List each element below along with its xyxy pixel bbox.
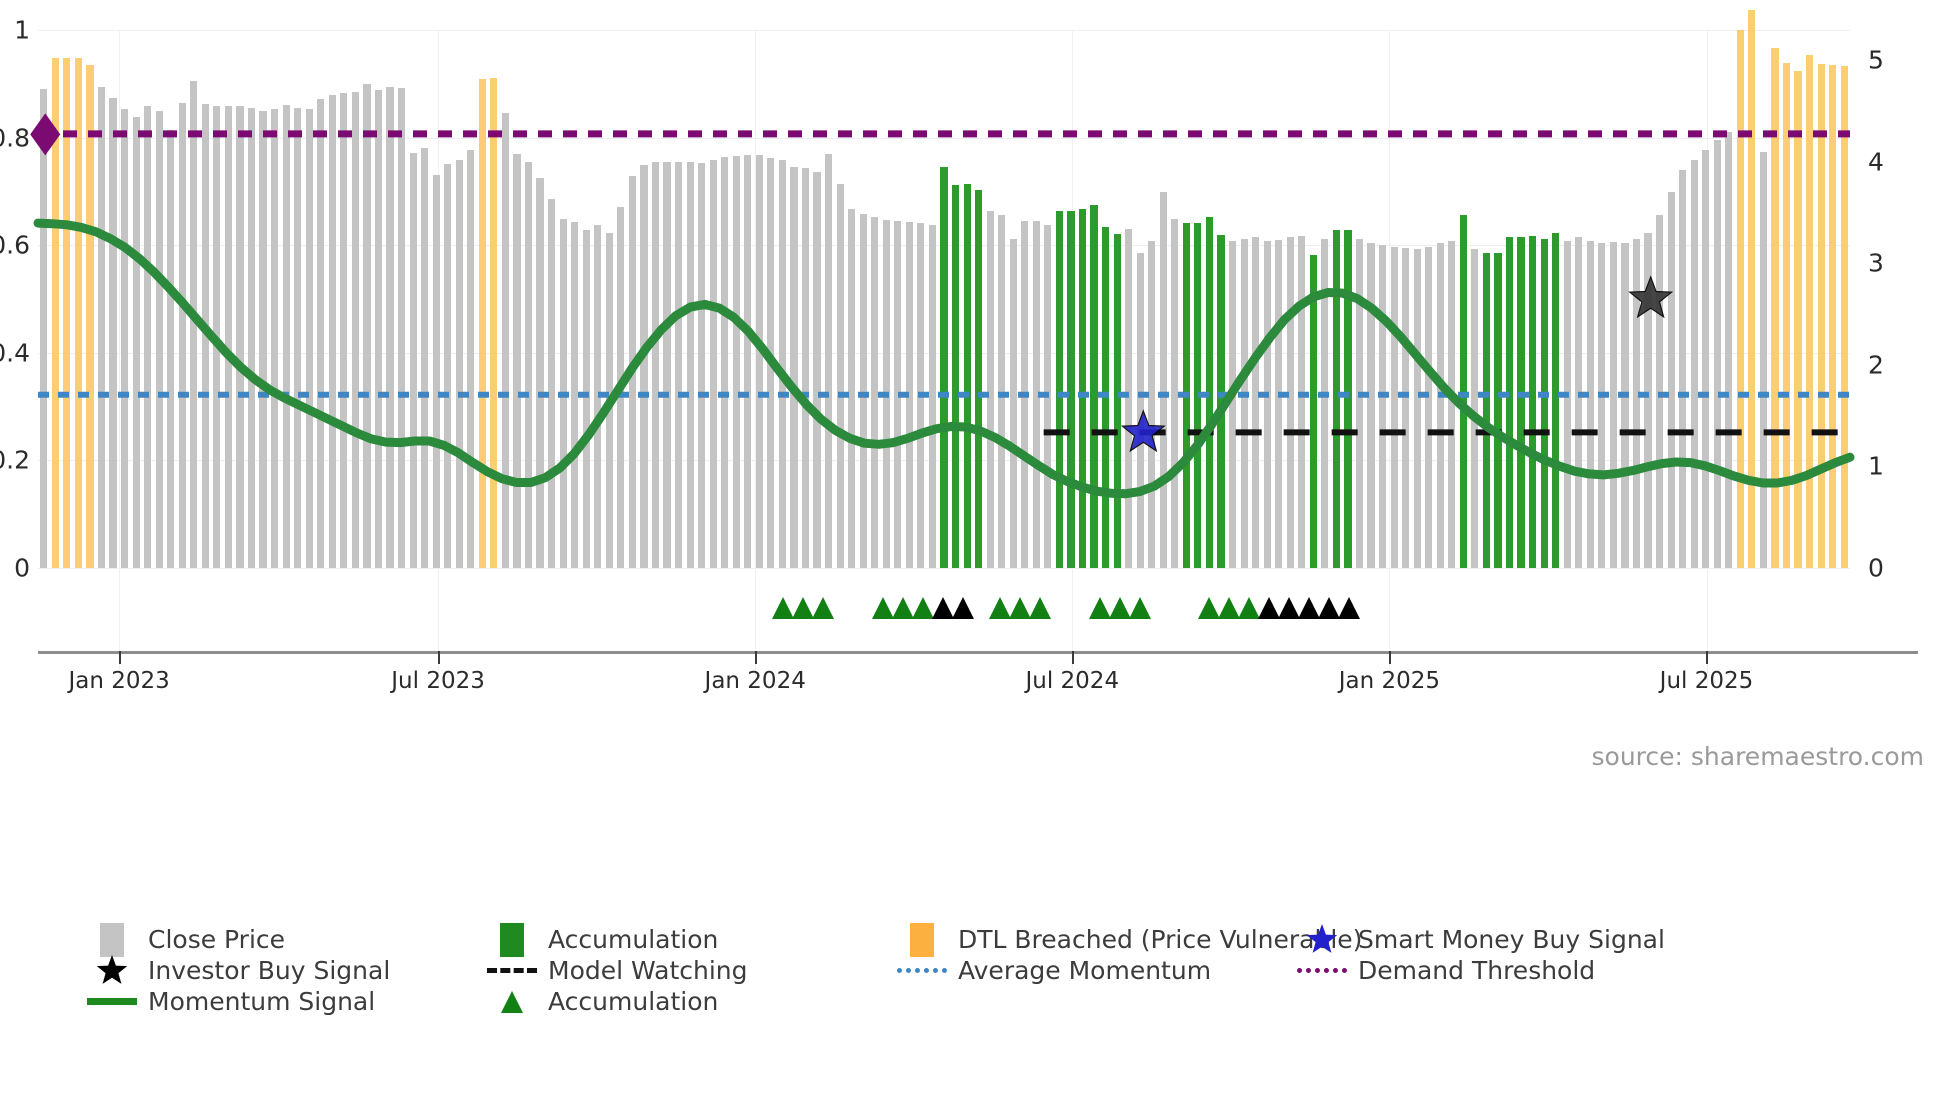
y-axis-left-tick-label: 0.4 [0, 338, 30, 367]
legend-triangle-icon [501, 991, 523, 1013]
accumulation-black-triangle-icon [1338, 597, 1360, 619]
legend-label: Accumulation [548, 987, 718, 1016]
legend-label: Investor Buy Signal [148, 956, 390, 985]
accumulation-triangle-icon [1009, 597, 1031, 619]
x-axis-tick [119, 651, 121, 664]
gridline-horizontal [38, 568, 1850, 569]
accumulation-triangle-icon [912, 597, 934, 619]
x-axis-label: Jul 2024 [1025, 668, 1119, 694]
y-axis-right-tick-label: 2 [1868, 350, 1884, 379]
accumulation-triangle-icon [1129, 597, 1151, 619]
x-axis-tick [1706, 651, 1708, 664]
accumulation-triangle-icon [812, 597, 834, 619]
legend-label: Model Watching [548, 956, 748, 985]
legend-average-momentum[interactable]: Average Momentum [894, 951, 1211, 990]
marker-star [38, 30, 1850, 568]
y-axis-left-tick-label: 0.2 [0, 446, 30, 475]
y-axis-right-tick-label: 3 [1868, 249, 1884, 278]
y-axis-left-tick-label: 0.6 [0, 231, 30, 260]
accumulation-black-triangle-icon [1278, 597, 1300, 619]
legend-momentum-signal[interactable]: Momentum Signal [84, 982, 375, 1021]
legend-swatch-dotted [897, 968, 947, 973]
legend-swatch-dotted [1297, 968, 1347, 973]
y-axis-left-tick-label: 0.8 [0, 123, 30, 152]
y-axis-left-tick-label: 1 [14, 16, 30, 45]
accumulation-triangle-icon [1198, 597, 1220, 619]
accumulation-black-triangle-icon [952, 597, 974, 619]
accumulation-black-triangle-icon [1258, 597, 1280, 619]
x-axis-label: Jan 2023 [69, 668, 170, 694]
accumulation-black-triangle-icon [1298, 597, 1320, 619]
accumulation-black-triangle-icon [1318, 597, 1340, 619]
star-icon [1307, 924, 1337, 953]
x-axis-tick [1072, 651, 1074, 664]
legend-label: Average Momentum [958, 956, 1211, 985]
x-axis-line [38, 651, 1918, 654]
legend-accumulation-marker[interactable]: Accumulation [484, 982, 718, 1021]
accumulation-triangle-icon [792, 597, 814, 619]
accumulation-black-triangle-icon [932, 597, 954, 619]
legend-label: Momentum Signal [148, 987, 375, 1016]
source-attribution: source: sharemaestro.com [1592, 742, 1925, 771]
x-axis-label: Jan 2024 [705, 668, 806, 694]
legend-label: Accumulation [548, 925, 718, 954]
x-axis-label: Jan 2025 [1339, 668, 1440, 694]
y-axis-right-tick-label: 0 [1868, 554, 1884, 583]
x-axis-label: Jul 2025 [1660, 668, 1754, 694]
point-marker-layer [38, 30, 1850, 568]
investor-buy-star-icon [1630, 277, 1672, 317]
star-icon [97, 955, 127, 984]
accumulation-triangle-icon [892, 597, 914, 619]
legend-label: Smart Money Buy Signal [1358, 925, 1665, 954]
accumulation-triangle-icon [1218, 597, 1240, 619]
accumulation-triangle-icon [772, 597, 794, 619]
x-axis-label: Jul 2023 [391, 668, 485, 694]
legend-swatch-dash [487, 968, 537, 973]
accumulation-triangle-icon [872, 597, 894, 619]
y-axis-right-tick-label: 4 [1868, 147, 1884, 176]
y-axis-left-tick-label: 0 [14, 554, 30, 583]
legend-label: Demand Threshold [1358, 956, 1595, 985]
accumulation-triangle-icon [1109, 597, 1131, 619]
accumulation-triangle-icon [1089, 597, 1111, 619]
plot-area [38, 30, 1850, 568]
x-axis-tick [438, 651, 440, 664]
accumulation-triangle-icon [989, 597, 1011, 619]
x-axis-tick [755, 651, 757, 664]
legend-label: Close Price [148, 925, 285, 954]
accumulation-triangle-icon [1238, 597, 1260, 619]
x-axis-tick [1389, 651, 1391, 664]
legend-demand-threshold[interactable]: Demand Threshold [1294, 951, 1595, 990]
chart-canvas: 00.20.40.60.81 012345 Jan 2023Jul 2023Ja… [0, 0, 1960, 1102]
y-axis-right-tick-label: 1 [1868, 452, 1884, 481]
accumulation-triangle-icon [1029, 597, 1051, 619]
y-axis-right-tick-label: 5 [1868, 46, 1884, 75]
legend-swatch-line [87, 998, 137, 1005]
